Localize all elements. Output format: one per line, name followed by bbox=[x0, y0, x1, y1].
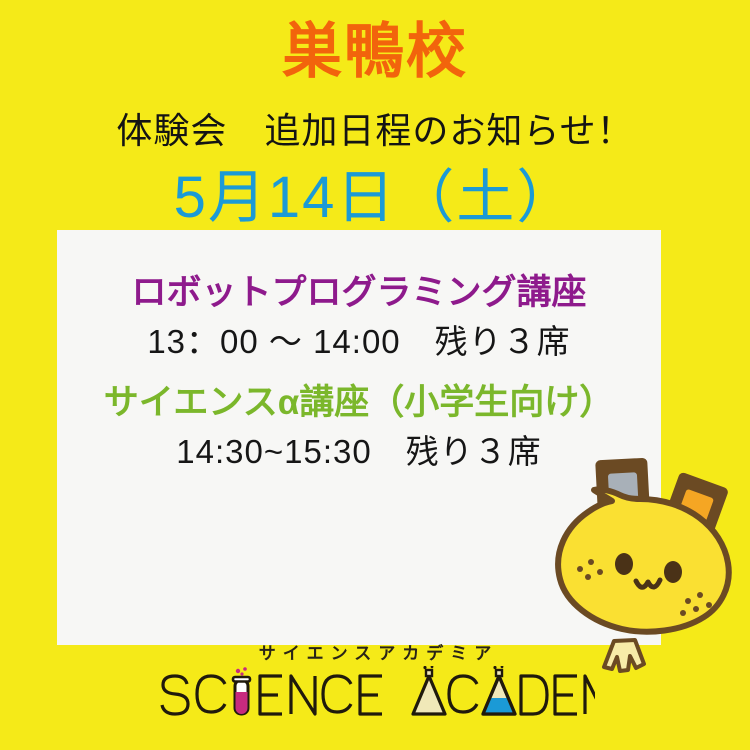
event-date: 5月14日（土） bbox=[0, 166, 750, 230]
school-title: 巣鴨校 bbox=[0, 22, 750, 82]
brand-logo: サイエンスアカデミア bbox=[0, 645, 750, 724]
course-item-robot: ロボットプログラミング講座 13：00 〜 14:00 残り３席 bbox=[57, 272, 661, 362]
course-title-robot: ロボットプログラミング講座 bbox=[57, 272, 661, 314]
logo-wordmark bbox=[0, 666, 750, 724]
course-detail-robot: 13：00 〜 14:00 残り３席 bbox=[57, 321, 661, 362]
course-title-science: サイエンスα講座（小学生向け） bbox=[57, 382, 661, 424]
logo-kana-text: サイエンスアカデミア bbox=[0, 645, 750, 662]
poster-canvas: 巣鴨校 体験会 追加日程のお知らせ！ 5月14日（土） ロボットプログラミング講… bbox=[0, 0, 750, 750]
announcement-text: 体験会 追加日程のお知らせ！ bbox=[0, 110, 750, 151]
